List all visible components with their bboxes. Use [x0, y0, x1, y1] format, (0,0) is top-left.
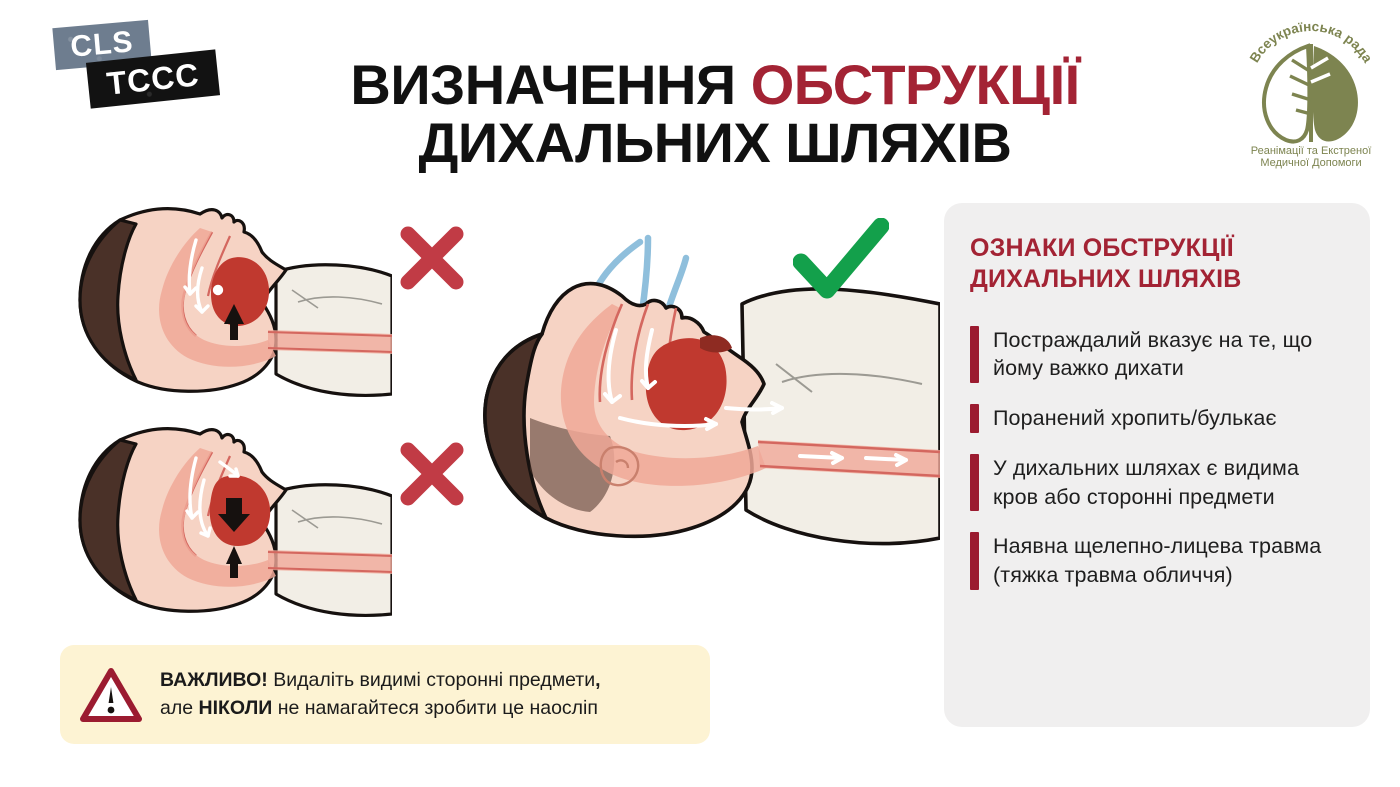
bullet-marker	[970, 454, 979, 512]
x-mark-upper	[396, 222, 468, 294]
note-bold-important: ВАЖЛИВО!	[160, 669, 268, 691]
lung-leaf-shape	[1264, 44, 1358, 142]
signs-title-line-1: ОЗНАКИ ОБСТРУКЦІЇ	[970, 233, 1344, 264]
sign-text: Наявна щелепно-лицева травма (тяжка трав…	[993, 532, 1344, 590]
note-text-part-3: не намагайтеся зробити це наосліп	[272, 697, 598, 719]
note-text-part-1: Видаліть видимі сторонні предмети	[268, 669, 595, 691]
page-title: ВИЗНАЧЕННЯ ОБСТРУКЦІЇ ДИХАЛЬНИХ ШЛЯХІВ	[300, 56, 1130, 172]
title-line-2: ДИХАЛЬНИХ ШЛЯХІВ	[300, 114, 1130, 172]
list-item: Постраждалий вказує на те, що йому важко…	[970, 326, 1344, 384]
signs-title-line-2: ДИХАЛЬНИХ ШЛЯХІВ	[970, 264, 1344, 295]
cls-tccc-logo: CLS TCCC	[44, 18, 224, 118]
signs-panel: ОЗНАКИ ОБСТРУКЦІЇ ДИХАЛЬНИХ ШЛЯХІВ Постр…	[944, 203, 1370, 727]
figure-obstructed-airway-lower	[62, 418, 392, 626]
title-accent-text: ОБСТРУКЦІЇ	[751, 53, 1080, 116]
logo-subtitle-line-1: Реанімації та Екстреної	[1251, 145, 1372, 157]
title-plain-text: ВИЗНАЧЕННЯ	[350, 53, 750, 116]
sign-text: Поранений хропить/булькає	[993, 404, 1277, 433]
bullet-marker	[970, 404, 979, 433]
note-bold-never: НІКОЛИ	[199, 697, 273, 719]
important-note-text: ВАЖЛИВО! Видаліть видимі сторонні предме…	[160, 667, 601, 722]
slide-root: CLS TCCC ВИЗНАЧЕННЯ ОБСТРУКЦІЇ ДИХАЛЬНИХ…	[0, 0, 1400, 787]
organisation-logo: Всеукраїнська рада Реанімації та Екстрен…	[1228, 6, 1394, 172]
logo-subtitle-line-2: Медичної Допомоги	[1260, 157, 1361, 169]
important-note-box: ВАЖЛИВО! Видаліть видимі сторонні предме…	[60, 645, 710, 744]
figure-obstructed-airway-upper	[62, 198, 392, 406]
list-item: Поранений хропить/булькає	[970, 404, 1344, 433]
bullet-marker	[970, 326, 979, 384]
signs-list: Постраждалий вказує на те, що йому важко…	[970, 326, 1344, 591]
list-item: У дихальних шляхах є видима кров або сто…	[970, 454, 1344, 512]
bullet-marker	[970, 532, 979, 590]
signs-panel-title: ОЗНАКИ ОБСТРУКЦІЇ ДИХАЛЬНИХ ШЛЯХІВ	[970, 233, 1344, 296]
check-mark-icon	[793, 218, 889, 302]
sign-text: У дихальних шляхах є видима кров або сто…	[993, 454, 1344, 512]
note-comma: ,	[595, 669, 600, 691]
title-line-1: ВИЗНАЧЕННЯ ОБСТРУКЦІЇ	[300, 56, 1130, 114]
sign-text: Постраждалий вказує на те, що йому важко…	[993, 326, 1344, 384]
x-mark-lower	[396, 438, 468, 510]
list-item: Наявна щелепно-лицева травма (тяжка трав…	[970, 532, 1344, 590]
warning-triangle-icon	[80, 667, 142, 723]
note-text-part-2: але	[160, 697, 199, 719]
